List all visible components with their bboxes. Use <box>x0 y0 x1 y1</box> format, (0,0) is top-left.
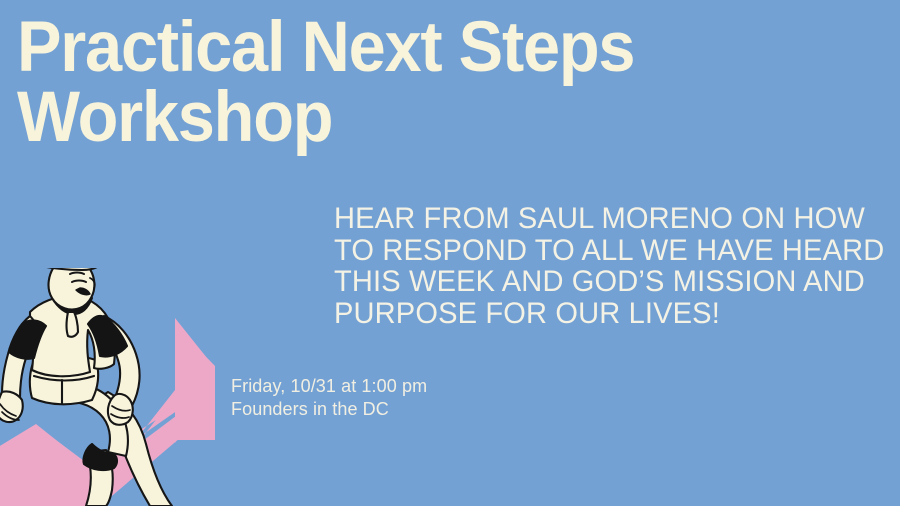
figure-left-hand <box>0 391 23 422</box>
figure-hat <box>38 268 102 270</box>
person-stepping-over-rising-arrow-icon <box>0 268 260 506</box>
body-description: HEAR FROM SAUL MORENO ON HOW TO RESPOND … <box>334 203 892 329</box>
illustration-container <box>0 268 260 506</box>
event-details: Friday, 10/31 at 1:00 pm Founders in the… <box>231 375 427 421</box>
slide-canvas: Practical Next Steps Workshop HEAR FROM … <box>0 0 900 506</box>
page-title: Practical Next Steps Workshop <box>17 13 675 153</box>
